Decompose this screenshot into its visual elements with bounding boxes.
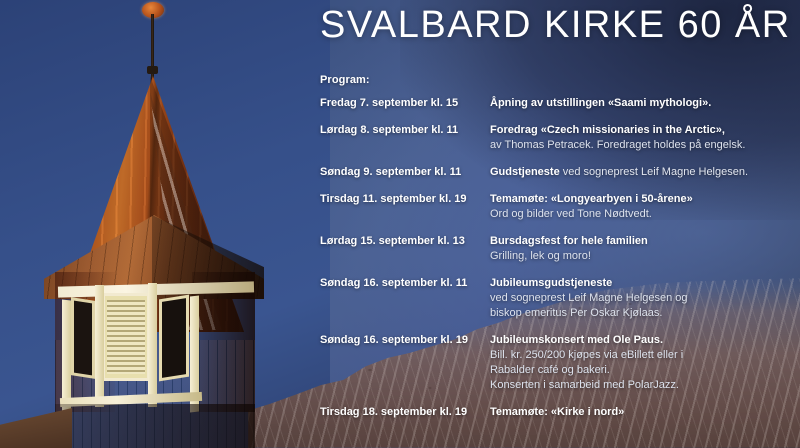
program-row-detail: Ord og bilder ved Tone Nødtvedt. (490, 207, 790, 222)
program-row-title: Bursdagsfest for hele familien (490, 234, 790, 249)
program-row-detail: ved sogneprest Leif Magne Helgesen og (490, 291, 790, 306)
finial-knob (147, 66, 158, 74)
program-row-date: Søndag 16. september kl. 11 (320, 276, 490, 321)
program-row: Lørdag 15. september kl. 13Bursdagsfest … (320, 234, 790, 264)
program-row-body: Jubileumsgudstjenesteved sogneprest Leif… (490, 276, 790, 321)
program-row-detail: Rabalder café og bakeri. (490, 363, 790, 378)
program-row-title-bold: Jubileumsgudstjeneste (490, 277, 612, 289)
program-row-body: Temamøte: «Kirke i nord» (490, 405, 790, 420)
program-row-title-bold: Temamøte: «Kirke i nord» (490, 406, 624, 418)
program-row-body: Temamøte: «Longyearbyen i 50-årene»Ord o… (490, 192, 790, 222)
program-row-title: Åpning av utstillingen «Saami mythologi»… (490, 96, 790, 111)
belfry-corner-post-1 (62, 300, 71, 413)
program-row-title: Jubileumskonsert med Ole Paus. (490, 333, 790, 348)
belfry-window-right (162, 298, 186, 378)
poster-title: SVALBARD KIRKE 60 ÅR (320, 4, 791, 47)
program-row-date: Søndag 16. september kl. 19 (320, 333, 490, 393)
program-row-body: Jubileumskonsert med Ole Paus.Bill. kr. … (490, 333, 790, 393)
program-row-detail: Konserten i samarbeid med PolarJazz. (490, 378, 790, 393)
program-row-title: Gudstjeneste ved sogneprest Leif Magne H… (490, 165, 790, 180)
program-row-date: Fredag 7. september kl. 15 (320, 96, 490, 111)
program-label: Program: (320, 74, 370, 86)
program-row-body: Åpning av utstillingen «Saami mythologi»… (490, 96, 790, 111)
program-row-detail: biskop emeritus Per Oskar Kjølaas. (490, 306, 790, 321)
program-row-title: Jubileumsgudstjeneste (490, 276, 790, 291)
program-list: Fredag 7. september kl. 15Åpning av utst… (320, 96, 790, 432)
program-row-title-bold: Bursdagsfest for hele familien (490, 235, 648, 247)
program-row-date: Søndag 9. september kl. 11 (320, 165, 490, 180)
program-row-date: Lørdag 8. september kl. 11 (320, 123, 490, 153)
program-row-detail: av Thomas Petracek. Foredraget holdes på… (490, 138, 790, 153)
belfry-louver-slats (107, 300, 145, 374)
program-row-detail: Grilling, lek og moro! (490, 249, 790, 264)
program-row-title-bold: Åpning av utstillingen «Saami mythologi»… (490, 97, 711, 109)
program-row-title-bold: Foredrag «Czech missionaries in the Arct… (490, 124, 725, 136)
program-row: Tirsdag 11. september kl. 19Temamøte: «L… (320, 192, 790, 222)
program-row-body: Foredrag «Czech missionaries in the Arct… (490, 123, 790, 153)
program-row: Søndag 16. september kl. 19Jubileumskons… (320, 333, 790, 393)
program-row-date: Tirsdag 18. september kl. 19 (320, 405, 490, 420)
program-row-title-bold: Gudstjeneste (490, 166, 560, 178)
belfry-corner-post-2 (95, 285, 104, 407)
program-row-title: Temamøte: «Kirke i nord» (490, 405, 790, 420)
church-tower-photo (0, 0, 300, 448)
program-row-title-bold: Temamøte: «Longyearbyen i 50-årene» (490, 193, 693, 205)
program-row: Søndag 16. september kl. 11Jubileumsguds… (320, 276, 790, 321)
program-row-title: Temamøte: «Longyearbyen i 50-årene» (490, 192, 790, 207)
program-row-body: Gudstjeneste ved sogneprest Leif Magne H… (490, 165, 790, 180)
program-row: Lørdag 8. september kl. 11Foredrag «Czec… (320, 123, 790, 153)
program-row: Fredag 7. september kl. 15Åpning av utst… (320, 96, 790, 111)
program-row-title-light: ved sogneprest Leif Magne Helgesen. (560, 166, 748, 178)
program-row: Søndag 9. september kl. 11Gudstjeneste v… (320, 165, 790, 180)
program-row-detail: Bill. kr. 250/200 kjøpes via eBillett el… (490, 348, 790, 363)
lower-building-roof (0, 408, 72, 448)
program-row-title-bold: Jubileumskonsert med Ole Paus. (490, 334, 663, 346)
program-row: Tirsdag 18. september kl. 19Temamøte: «K… (320, 405, 790, 420)
program-row-body: Bursdagsfest for hele familienGrilling, … (490, 234, 790, 264)
poster-canvas: SVALBARD KIRKE 60 ÅR Program: Fredag 7. … (0, 0, 800, 448)
belfry-window-left (74, 301, 92, 376)
program-row-date: Lørdag 15. september kl. 13 (320, 234, 490, 264)
program-row-date: Tirsdag 11. september kl. 19 (320, 192, 490, 222)
program-row-title: Foredrag «Czech missionaries in the Arct… (490, 123, 790, 138)
belfry-corner-post-3 (148, 283, 157, 407)
tower-base-shadow (55, 404, 255, 448)
